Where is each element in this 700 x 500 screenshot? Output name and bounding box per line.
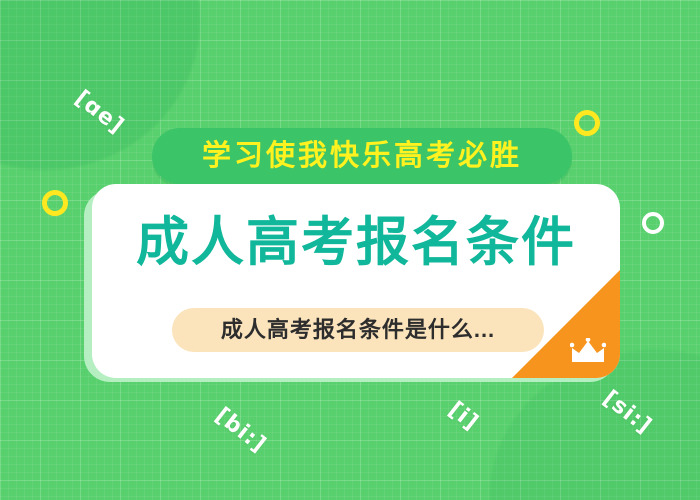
- decor-ring-yellow-top-right: [574, 110, 600, 136]
- subtitle-pill: 成人高考报名条件是什么...: [172, 308, 544, 352]
- subtitle-text: 成人高考报名条件是什么...: [221, 319, 495, 341]
- top-banner: 学习使我快乐高考必胜: [152, 128, 572, 184]
- top-banner-text: 学习使我快乐高考必胜: [202, 142, 522, 171]
- main-title: 成人高考报名条件: [92, 216, 620, 269]
- poster-canvas: [ɑe] [bi:] [i] [si:] 学习使我快乐高考必胜 成人高考报名条件…: [0, 0, 700, 500]
- decor-ring-white-right: [642, 212, 664, 234]
- crown-icon: [570, 338, 606, 364]
- main-card: 成人高考报名条件 成人高考报名条件是什么...: [92, 184, 620, 378]
- decor-ring-yellow-left: [42, 190, 68, 216]
